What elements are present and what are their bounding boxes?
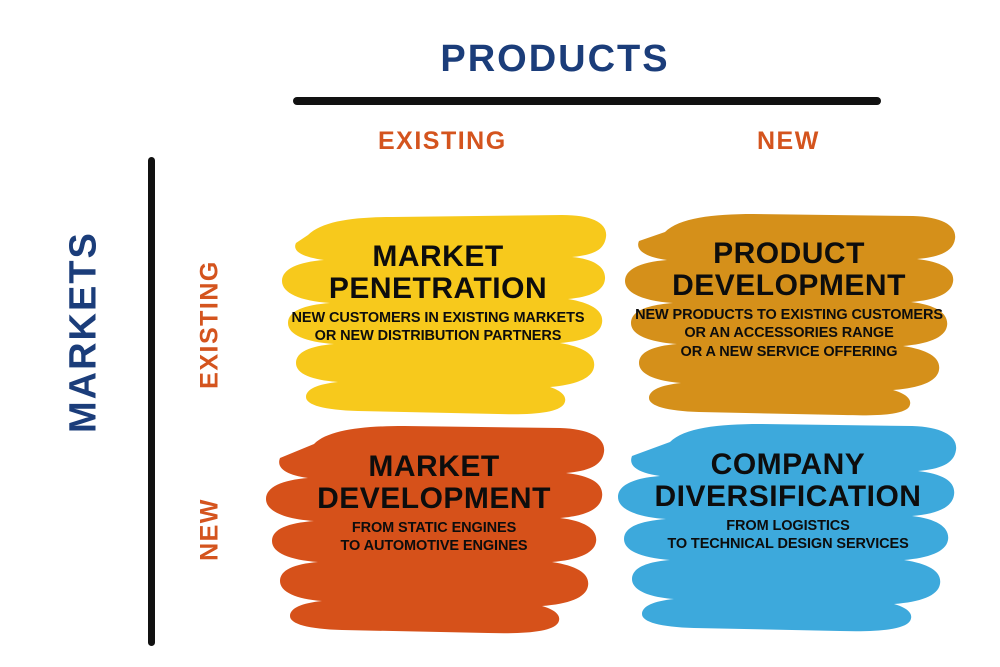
quadrant-company-diversification[interactable]: COMPANY DIVERSIFICATION FROM LOGISTICS T… [612, 424, 964, 636]
brush-stroke-shape-amber [613, 210, 965, 418]
x-axis-label-new: NEW [757, 127, 820, 156]
vertical-axis-line [148, 157, 155, 646]
horizontal-axis-line [293, 97, 881, 105]
y-axis-label-existing: EXISTING [196, 235, 225, 415]
brush-stroke-shape-red [258, 424, 610, 636]
x-axis-label-existing: EXISTING [378, 127, 507, 156]
ansoff-matrix-diagram: PRODUCTS EXISTING NEW MARKETS EXISTING N… [0, 0, 1000, 667]
y-axis-label-new: NEW [196, 440, 225, 620]
x-axis-title: PRODUCTS [0, 38, 1000, 81]
brush-stroke-shape-blue [612, 424, 964, 636]
y-axis-title: MARKETS [63, 233, 106, 433]
brush-stroke-shape-yellow [262, 211, 614, 417]
quadrant-product-development[interactable]: PRODUCT DEVELOPMENT NEW PRODUCTS TO EXIS… [613, 210, 965, 418]
quadrant-market-development[interactable]: MARKET DEVELOPMENT FROM STATIC ENGINES T… [258, 424, 610, 636]
quadrant-market-penetration[interactable]: MARKET PENETRATION NEW CUSTOMERS IN EXIS… [262, 211, 614, 417]
